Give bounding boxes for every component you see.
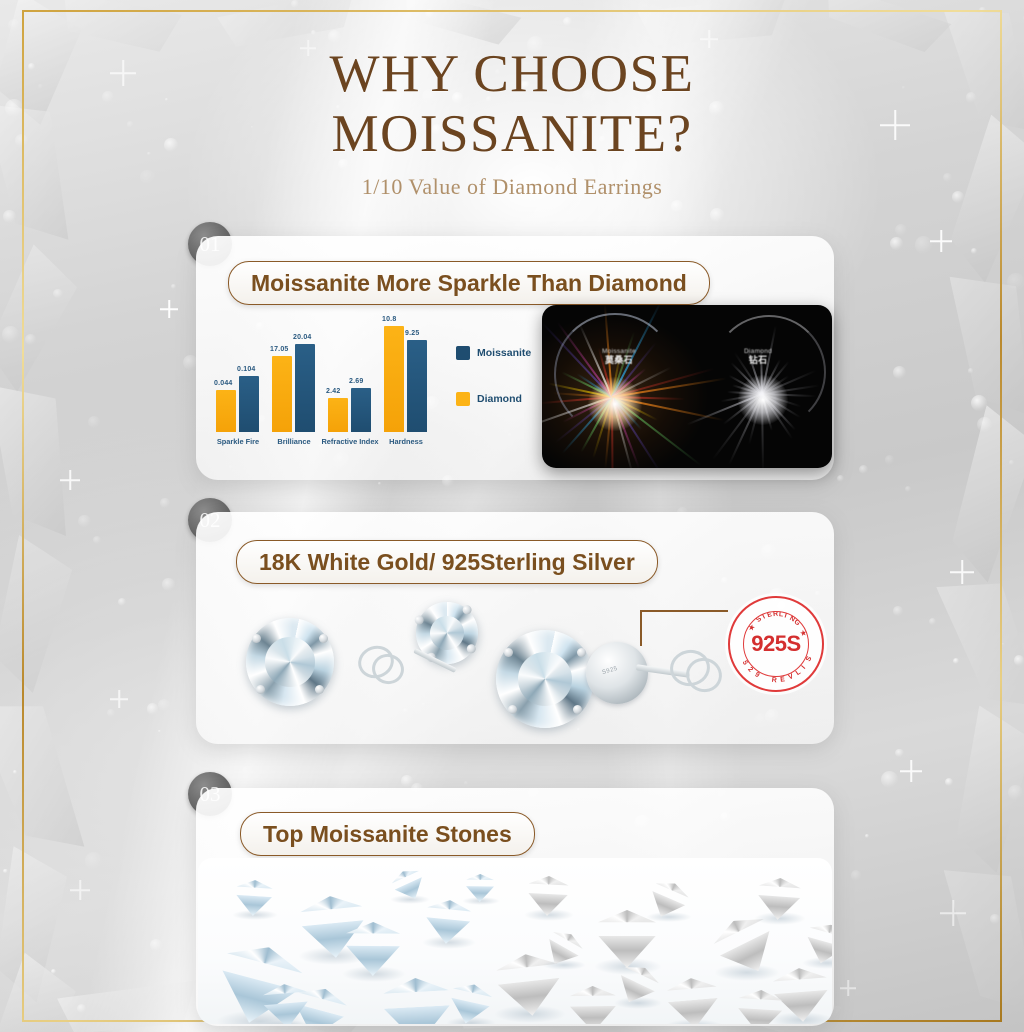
legend-item-diamond: Diamond: [456, 392, 531, 406]
diamond-pavilion: [570, 1006, 616, 1024]
diamond-pavilion: [466, 886, 494, 902]
diamond-crown: [528, 875, 569, 895]
photo-label-diamond-en: Diamond: [744, 348, 772, 355]
infographic-canvas: WHY CHOOSE MOISSANITE? 1/10 Value of Dia…: [0, 0, 1024, 1032]
seal-inner-ring: 925S: [743, 611, 809, 677]
large-prong-2: [577, 648, 586, 657]
bar-diamond: [272, 356, 292, 432]
loose-diamond: [424, 898, 472, 946]
diamond-pavilion: [264, 1002, 310, 1024]
bar-diamond: [384, 326, 404, 432]
loose-diamond: [466, 874, 494, 902]
diamond-pavilion: [757, 895, 801, 921]
bar-moissanite: [295, 344, 315, 432]
loose-diamond: [382, 976, 451, 1024]
bar-moissanite: [407, 340, 427, 432]
bar-value-label-moissanite: 20.04: [293, 334, 312, 341]
page-subtitle: 1/10 Value of Diamond Earrings: [0, 174, 1024, 200]
gem-arc-highlight-left: [554, 313, 676, 435]
diamond-pavilion: [668, 998, 720, 1024]
loose-diamond: [262, 982, 310, 1024]
photo-label-diamond: Diamond 钻石: [712, 347, 804, 365]
diamond-crown: [466, 874, 494, 887]
diamond-pavilion: [498, 978, 563, 1019]
chart-bar-group: 0.0440.104: [216, 312, 262, 432]
seal-char: I: [801, 665, 808, 671]
diamond-crown: [758, 877, 801, 899]
page-title-line-2: MOISSANITE?: [0, 104, 1024, 164]
bar-moissanite: [239, 376, 259, 432]
legend-label-diamond: Diamond: [477, 393, 522, 405]
chart-bar-group: 10.89.25: [384, 312, 430, 432]
comparison-bar-chart: 0.0440.104Sparkle Fire17.0520.04Brillian…: [208, 308, 538, 468]
diamond-pavilion: [527, 893, 568, 917]
diamond-pavilion: [424, 917, 470, 946]
diamond-crown: [570, 986, 616, 1008]
diamond-pavilion: [737, 1008, 782, 1024]
diamond-pavilion: [235, 895, 272, 917]
gem-arc-highlight-right: [712, 315, 826, 429]
bar-diamond: [216, 390, 236, 432]
legend-swatch-moissanite: [456, 346, 470, 360]
diamond-pavilion: [446, 997, 490, 1024]
seal-char: E: [780, 676, 785, 684]
chart-legend: Moissanite Diamond: [456, 346, 531, 438]
photo-label-moissanite-cn: 莫桑石: [582, 356, 656, 365]
diamond-crown: [738, 989, 783, 1012]
photo-label-moissanite: Moissanite 莫桑石: [582, 347, 656, 365]
section-03-heading: Top Moissanite Stones: [240, 812, 535, 856]
loose-diamonds-photo: [198, 858, 832, 1024]
chart-category-label: Brilliance: [265, 438, 323, 447]
bar-diamond: [328, 398, 348, 432]
loose-diamond: [346, 922, 400, 976]
chart-category-label: Hardness: [377, 438, 435, 447]
page-title-line-1: WHY CHOOSE: [0, 44, 1024, 104]
bar-value-label-moissanite: 2.69: [349, 378, 363, 385]
chart-bar-group: 2.422.69: [328, 312, 374, 432]
chart-plot-area: 0.0440.104Sparkle Fire17.0520.04Brillian…: [216, 312, 442, 432]
legend-item-moissanite: Moissanite: [456, 346, 531, 360]
bar-value-label-diamond: 2.42: [326, 388, 340, 395]
prong-3: [256, 685, 265, 694]
loose-diamond: [570, 986, 617, 1024]
stud-earring-head: [410, 596, 484, 670]
loose-diamond: [446, 980, 494, 1024]
moissanite-stud-large: [496, 630, 594, 728]
chart-category-label: Sparkle Fire: [209, 438, 267, 447]
photo-label-moissanite-en: Moissanite: [602, 348, 636, 355]
sparkle-comparison-photo: Moissanite 莫桑石 Diamond 钻石: [542, 305, 832, 468]
diamond-crown: [382, 976, 449, 1010]
prong-2: [319, 634, 328, 643]
prong-1: [252, 634, 261, 643]
loose-diamond: [235, 879, 273, 917]
diamond-crown: [236, 879, 273, 898]
bar-value-label-moissanite: 0.104: [237, 366, 256, 373]
bar-value-label-diamond: 17.05: [270, 346, 289, 353]
loose-diamond: [757, 877, 802, 922]
section-02-heading: 18K White Gold/ 925Sterling Silver: [236, 540, 658, 584]
photo-label-diamond-cn: 钻石: [712, 356, 804, 365]
sterling-silver-seal: ★ STERLING ★SILVER 925 925S: [728, 596, 824, 692]
loose-diamond: [666, 976, 720, 1024]
earring-back-disc: [586, 642, 648, 704]
prong-4: [315, 685, 324, 694]
seal-char: R: [771, 677, 777, 685]
diamond-crown: [346, 922, 400, 947]
stone-table-facet: [265, 637, 314, 686]
callout-line-vertical: [640, 610, 642, 646]
legend-label-moissanite: Moissanite: [477, 347, 531, 359]
section-01-heading: Moissanite More Sparkle Than Diamond: [228, 261, 710, 305]
diamond-pavilion: [384, 1005, 452, 1024]
large-prong-1: [504, 648, 513, 657]
loose-diamond: [527, 875, 569, 917]
large-prong-3: [508, 705, 517, 714]
large-prong-4: [573, 705, 582, 714]
seal-center-text: 925S: [751, 631, 800, 657]
legend-swatch-diamond: [456, 392, 470, 406]
loose-moissanite-stone: [246, 618, 334, 706]
bar-moissanite: [351, 388, 371, 432]
diamond-pavilion: [346, 946, 400, 977]
bar-value-label-diamond: 10.8: [382, 316, 396, 323]
loose-diamond: [737, 989, 784, 1024]
chart-bar-group: 17.0520.04: [272, 312, 318, 432]
chart-category-label: Refractive Index: [321, 438, 379, 447]
page-header: WHY CHOOSE MOISSANITE? 1/10 Value of Dia…: [0, 44, 1024, 200]
callout-line-horizontal: [640, 610, 728, 612]
bar-value-label-moissanite: 9.25: [405, 330, 419, 337]
bar-value-label-diamond: 0.044: [214, 380, 233, 387]
